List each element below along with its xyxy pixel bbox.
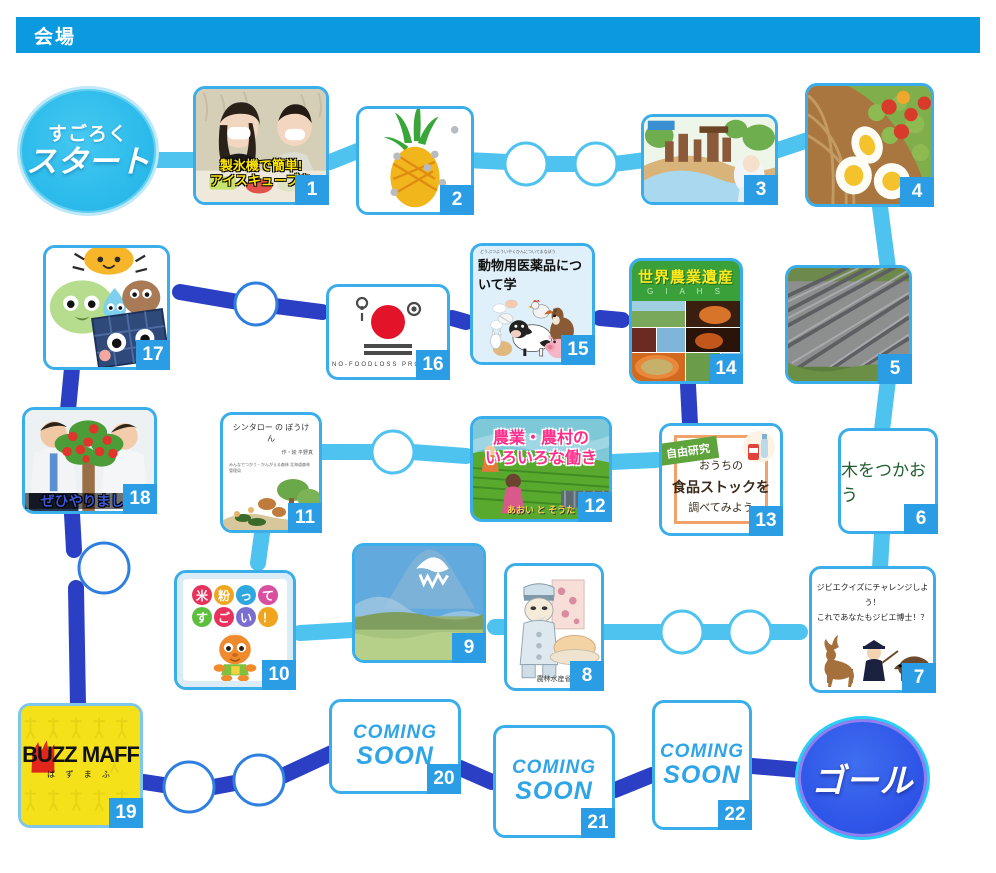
- card-10-chip-7: い: [236, 607, 256, 627]
- card-7-number: 7: [902, 663, 936, 693]
- card-14-number: 14: [709, 354, 743, 384]
- card-9-number: 9: [452, 633, 486, 663]
- card-3[interactable]: 3: [641, 114, 778, 205]
- card-10-chip-4: て: [258, 585, 278, 605]
- goal-label: ゴール: [812, 754, 914, 802]
- card-2-number: 2: [440, 185, 474, 215]
- card-13[interactable]: 自由研究 おうちの 食品ストックを 調べてみよう 13: [659, 423, 783, 536]
- card-12-line1: 農業・農村の: [473, 429, 609, 449]
- card-7-line1: ジビエクイズにチャレンジしよう！: [816, 580, 929, 610]
- card-5[interactable]: 5: [785, 265, 912, 384]
- card-22[interactable]: COMING SOON 22: [652, 700, 752, 830]
- card-10[interactable]: 米 粉 っ て す ご い ！: [174, 570, 296, 690]
- card-19-ruby: ば ず ま ふ: [21, 769, 140, 780]
- card-16-number: 16: [416, 350, 450, 380]
- card-19-logo-text: BUZZ MAFF: [21, 742, 140, 768]
- card-7[interactable]: ジビエクイズにチャレンジしよう！ これであなたもジビエ博士！？: [809, 566, 936, 693]
- card-19[interactable]: BUZZ MAFF ば ず ま ふ 19: [18, 703, 143, 828]
- start-label-line2: スタート: [26, 146, 150, 177]
- card-11-author: 作・絵 平野真: [229, 449, 313, 456]
- card-17[interactable]: 17: [43, 245, 170, 370]
- sugoroku-board: 会場: [0, 0, 996, 873]
- card-21[interactable]: COMING SOON 21: [493, 725, 615, 838]
- card-13-number: 13: [749, 506, 783, 536]
- goal-marker[interactable]: ゴール: [795, 716, 930, 840]
- card-15-title: 動物用医薬品について学: [478, 255, 589, 293]
- card-5-number: 5: [878, 354, 912, 384]
- card-16[interactable]: NO-FOODLOSS PROJECT 16: [326, 284, 450, 380]
- card-2[interactable]: 2: [356, 106, 474, 215]
- card-15-number: 15: [561, 335, 595, 365]
- card-21-line2: SOON: [515, 778, 593, 804]
- card-6-number: 6: [904, 504, 938, 534]
- card-22-line2: SOON: [663, 762, 741, 788]
- card-7-line2: これであなたもジビエ博士！？: [816, 610, 929, 625]
- card-22-number: 22: [718, 800, 752, 830]
- card-14[interactable]: 世界農業遺産 G I A H S 14: [629, 258, 743, 384]
- card-4-number: 4: [900, 177, 934, 207]
- card-20-number: 20: [427, 764, 461, 794]
- card-18[interactable]: ぜひやりましょ 18: [22, 407, 157, 514]
- card-12[interactable]: 農業・農村の いろいろな働き あおい と そうた 12: [470, 416, 612, 522]
- start-marker[interactable]: すごろく スタート: [17, 86, 159, 216]
- card-10-number: 10: [262, 660, 296, 690]
- rice-mascot-icon: [205, 629, 265, 681]
- card-14-subtitle: G I A H S: [647, 287, 725, 296]
- card-4[interactable]: 4: [805, 83, 934, 207]
- card-3-number: 3: [744, 175, 778, 205]
- card-11-number: 11: [288, 503, 322, 533]
- card-19-number: 19: [109, 798, 143, 828]
- card-11-title: シンタロー の ぼうけん: [229, 422, 313, 444]
- card-17-number: 17: [136, 340, 170, 370]
- card-21-number: 21: [581, 808, 615, 838]
- card-12-number: 12: [578, 492, 612, 522]
- card-22-line1: COMING: [660, 742, 744, 762]
- card-11-sub: みんなでつかう・かんがえる森林 北海道森林管理局: [229, 462, 313, 474]
- card-10-chip-2: 粉: [214, 585, 234, 605]
- card-18-number: 18: [123, 484, 157, 514]
- card-6[interactable]: 木をつかおう 6: [838, 428, 938, 534]
- card-8-number: 8: [570, 661, 604, 691]
- card-21-line1: COMING: [512, 758, 596, 778]
- card-8[interactable]: 農林水産省 8: [504, 563, 604, 691]
- card-10-chip-3: っ: [236, 585, 256, 605]
- card-20[interactable]: COMING SOON 20: [329, 699, 461, 794]
- card-10-chip-6: ご: [214, 607, 234, 627]
- card-14-title: 世界農業遺産: [638, 266, 734, 287]
- card-15[interactable]: どうぶつよういやくひんについてまなぼう 動物用医薬品について学: [470, 243, 595, 365]
- card-10-chip-5: す: [192, 607, 212, 627]
- card-20-line2: SOON: [356, 743, 434, 769]
- card-1-number: 1: [295, 175, 329, 205]
- card-13-line2: 食品ストックを: [672, 476, 770, 500]
- card-1[interactable]: 製氷機で簡単! アイスキューブを 1: [193, 86, 329, 205]
- card-20-line1: COMING: [353, 723, 437, 743]
- start-label-line1: すごろく: [26, 125, 150, 144]
- card-10-chip-8: ！: [258, 607, 278, 627]
- card-12-line2: いろいろな働き: [473, 449, 609, 469]
- card-11[interactable]: シンタロー の ぼうけん 作・絵 平野真 みんなでつかう・かんがえる森林 北海道…: [220, 412, 322, 533]
- card-9[interactable]: 9: [352, 543, 486, 663]
- card-13-line1: おうちの: [672, 457, 770, 476]
- card-10-chip-1: 米: [192, 585, 212, 605]
